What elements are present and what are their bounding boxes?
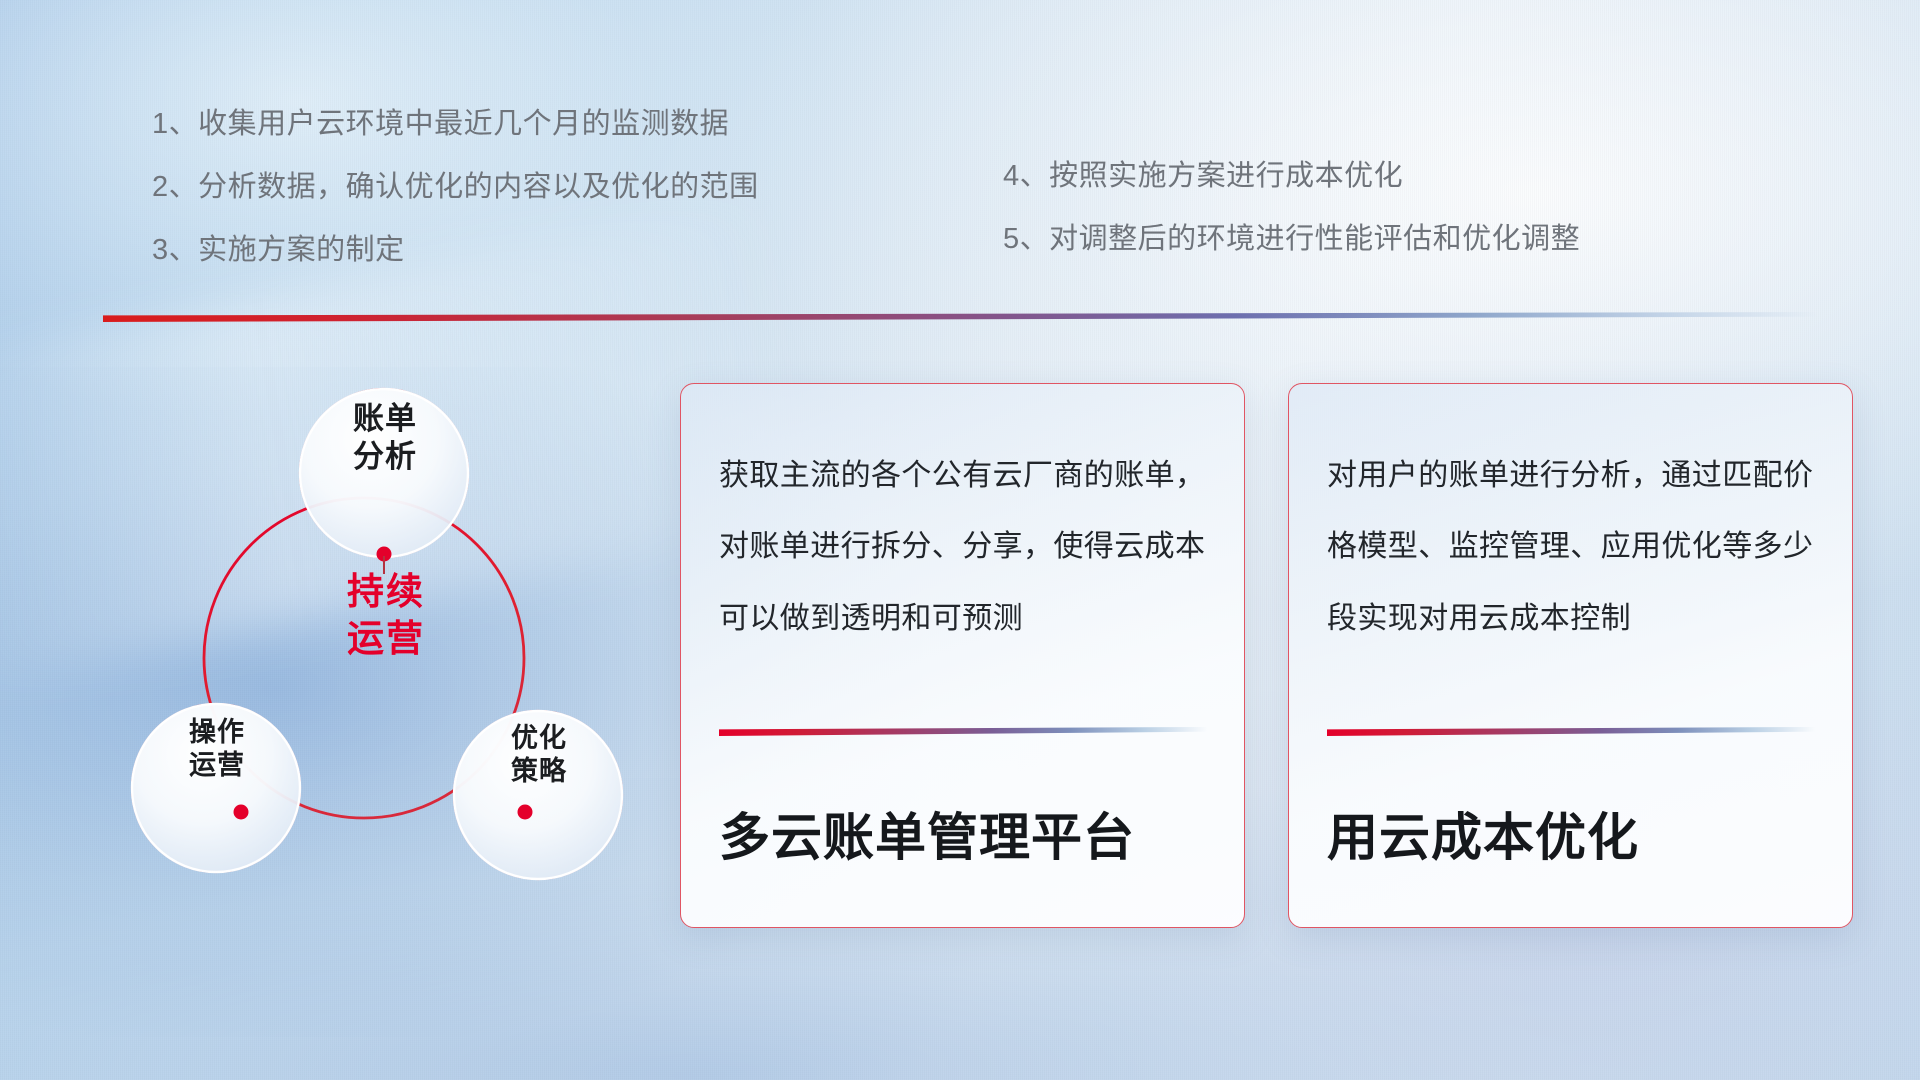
step-item-2: 2、分析数据，确认优化的内容以及优化的范围	[152, 163, 759, 205]
venn-label-strat-line1: 优化	[454, 722, 624, 755]
venn-center-label: 持续 运营	[276, 568, 496, 663]
card-divider	[1327, 727, 1815, 736]
venn-center-label-line2: 运营	[276, 615, 496, 662]
venn-label-strategy: 优化 策略	[454, 722, 624, 788]
venn-label-bill-line1: 账单	[300, 400, 470, 438]
venn-label-operations: 操作 运营	[132, 716, 302, 782]
card-divider-bar	[719, 727, 1207, 736]
venn-label-bill-analysis: 账单 分析	[300, 400, 470, 476]
card-title: 用云成本优化	[1327, 796, 1832, 870]
venn-label-bill-line2: 分析	[300, 438, 470, 476]
step-item-4: 4、按照实施方案进行成本优化	[1003, 152, 1580, 194]
card-body-text: 对用户的账单进行分析，通过匹配价格模型、监控管理、应用优化等多少段实现对用云成本…	[1327, 440, 1830, 654]
venn-center-label-line1: 持续	[276, 568, 496, 615]
venn-label-ops-line1: 操作	[132, 716, 302, 749]
venn-diagram: 账单 分析 操作 运营 优化 策略 持续 运营	[96, 348, 636, 948]
step-item-3: 3、实施方案的制定	[152, 226, 759, 268]
section-divider	[103, 312, 1818, 322]
card-divider	[719, 727, 1207, 736]
feature-card-cloud-cost-optimization[interactable]: 对用户的账单进行分析，通过匹配价格模型、监控管理、应用优化等多少段实现对用云成本…	[1288, 383, 1853, 928]
steps-list-right: 4、按照实施方案进行成本优化 5、对调整后的环境进行性能评估和优化调整	[1003, 152, 1580, 278]
step-item-1: 1、收集用户云环境中最近几个月的监测数据	[152, 100, 759, 142]
step-item-5: 5、对调整后的环境进行性能评估和优化调整	[1003, 215, 1580, 257]
card-divider-bar	[1327, 727, 1815, 736]
section-divider-bar	[103, 312, 1818, 322]
card-body-text: 获取主流的各个公有云厂商的账单，对账单进行拆分、分享，使得云成本可以做到透明和可…	[719, 440, 1222, 654]
venn-label-strat-line2: 策略	[454, 755, 624, 788]
slide-content: 1、收集用户云环境中最近几个月的监测数据 2、分析数据，确认优化的内容以及优化的…	[0, 0, 1920, 1080]
steps-list-left: 1、收集用户云环境中最近几个月的监测数据 2、分析数据，确认优化的内容以及优化的…	[152, 100, 759, 289]
venn-dot-left	[234, 805, 249, 820]
venn-label-ops-line2: 运营	[132, 749, 302, 782]
card-title: 多云账单管理平台	[719, 796, 1224, 870]
feature-card-multi-cloud-bill-platform[interactable]: 获取主流的各个公有云厂商的账单，对账单进行拆分、分享，使得云成本可以做到透明和可…	[680, 383, 1245, 928]
venn-dot-right	[518, 805, 533, 820]
